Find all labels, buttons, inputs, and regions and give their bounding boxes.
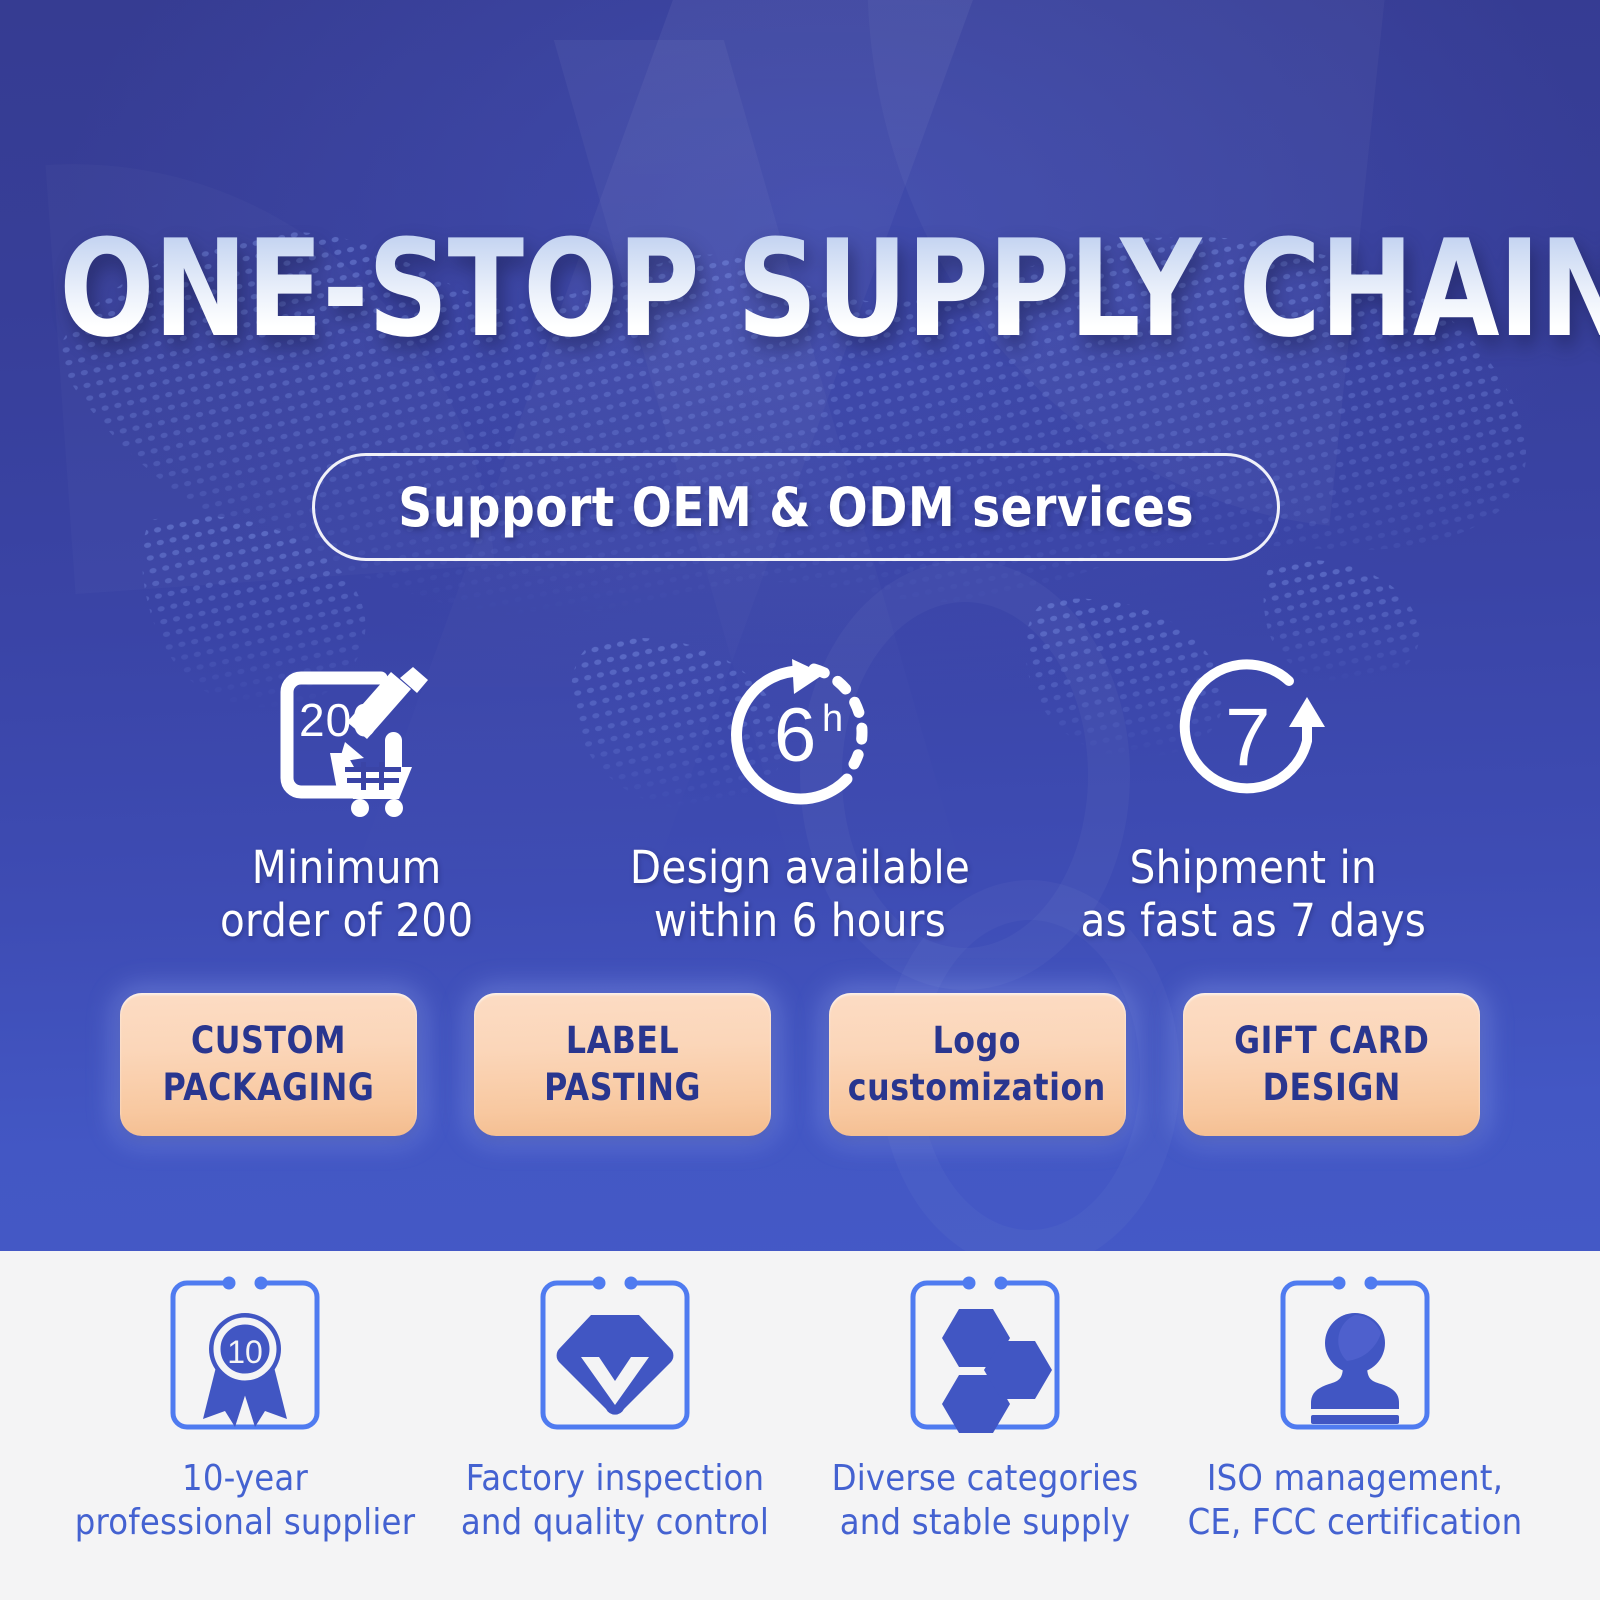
trust-caption: 10-year professional supplier [60,1457,430,1545]
hero-section: ONE-STOP SUPPLY CHAIN Support OEM & ODM … [0,0,1600,1251]
feature-item-shipment-speed: 7 Shipment in as fast as 7 days [1027,640,1480,947]
chip-label-pasting[interactable]: LABEL PASTING [474,993,771,1136]
chip-label: CUSTOM PACKAGING [163,1018,375,1111]
feature-caption: Design available within 6 hours [573,842,1026,947]
subtitle-text: Support OEM & ODM services [398,476,1194,539]
hero-title: ONE-STOP SUPPLY CHAIN [59,222,1600,356]
seven-day-shipment-icon: 7 [1027,640,1480,830]
trust-item-inspection: Factory inspection and quality control [430,1271,800,1545]
chip-label: LABEL PASTING [544,1018,701,1111]
trust-caption: Diverse categories and stable supply [800,1457,1170,1545]
feature-caption: Minimum order of 200 [120,842,573,947]
hero-title-wrapper: ONE-STOP SUPPLY CHAIN [0,222,1600,356]
order-quantity-icon: 200 [120,640,573,830]
chip-label: GIFT CARD DESIGN [1234,1018,1429,1111]
diamond-gem-icon [531,1271,699,1439]
trust-caption: Factory inspection and quality control [430,1457,800,1545]
medal-ribbon-icon: 10 [161,1271,329,1439]
subtitle-pill: Support OEM & ODM services [312,453,1280,561]
feature-item-design-turnaround: 6 h Design available within 6 hours [573,640,1026,947]
trust-item-experience: 10 10-year professional supplier [60,1271,430,1545]
trust-strip-section: 10 10-year professional supplier [0,1251,1600,1600]
feature-caption: Shipment in as fast as 7 days [1027,842,1480,947]
rubber-stamp-icon [1271,1271,1439,1439]
service-chip-list: CUSTOM PACKAGING LABEL PASTING Logo cust… [120,993,1480,1136]
svg-text:h: h [822,698,843,740]
chip-label: Logo customization [848,1018,1106,1111]
svg-text:10: 10 [227,1334,263,1370]
chip-gift-card-design[interactable]: GIFT CARD DESIGN [1183,993,1480,1136]
svg-text:7: 7 [1225,692,1271,783]
chip-custom-packaging[interactable]: CUSTOM PACKAGING [120,993,417,1136]
trust-item-list: 10 10-year professional supplier [60,1271,1540,1545]
trust-item-certification: ISO management, CE, FCC certification [1170,1271,1540,1545]
hexagon-cluster-icon [901,1271,1069,1439]
trust-caption: ISO management, CE, FCC certification [1170,1457,1540,1545]
svg-text:6: 6 [774,693,816,778]
promo-banner: ONE-STOP SUPPLY CHAIN Support OEM & ODM … [0,0,1600,1600]
feature-list: 200 [120,640,1480,947]
chip-logo-customization[interactable]: Logo customization [829,993,1126,1136]
trust-item-categories: Diverse categories and stable supply [800,1271,1170,1545]
six-hour-turnaround-icon: 6 h [573,640,1026,830]
feature-item-minimum-order: 200 [120,640,573,947]
